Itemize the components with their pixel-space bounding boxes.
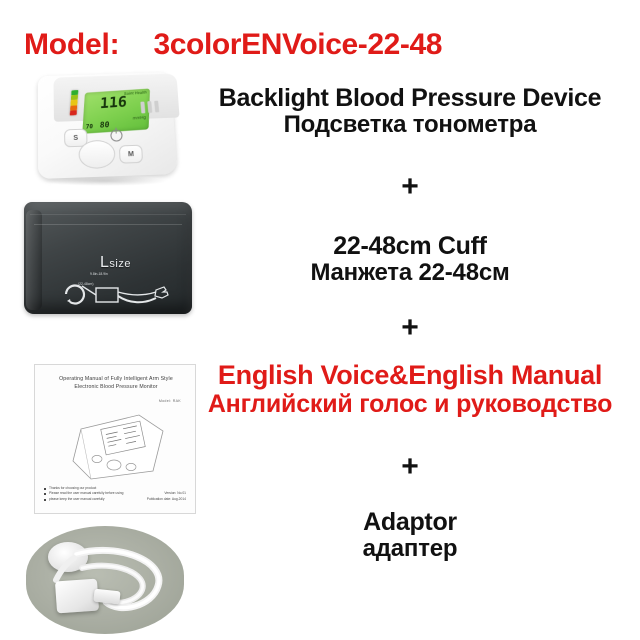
device-side-ticks xyxy=(140,100,168,129)
lcd-diastolic-value: 80 xyxy=(100,120,110,130)
manual-model-label: Model: RAK xyxy=(159,399,181,403)
manual-title-line2: Electronic Blood Pressure Monitor xyxy=(41,383,191,391)
manual-photo: Operating Manual of Fully Intelligent Ar… xyxy=(34,364,196,514)
cuff-caption-en: 22-48cm Cuff xyxy=(180,232,640,260)
indicator-segment xyxy=(70,110,77,116)
tick-mark xyxy=(147,101,152,113)
device-caption-en: Backlight Blood Pressure Device xyxy=(180,84,640,112)
tick-mark xyxy=(154,101,159,113)
adaptor-photo xyxy=(16,524,192,636)
voice-manual-caption: English Voice&English Manual Английский … xyxy=(180,360,640,418)
cuff-arm-diagram-icon xyxy=(56,274,176,314)
product-listing-image: Model: 3colorENVoice-22-48 Saint Health … xyxy=(0,0,640,640)
lcd-systolic-value: 116 xyxy=(100,95,128,112)
cuff-fold xyxy=(26,210,42,310)
separator-plus-2: + xyxy=(180,313,640,343)
cuff-caption: 22-48cm Cuff Манжета 22-48см xyxy=(180,232,640,287)
manual-meta: Version: No.01 Publication date: Aug.201… xyxy=(147,491,186,503)
adaptor-power-brick xyxy=(55,579,99,614)
lcd-pulse-value: 70 xyxy=(85,123,93,130)
voice-manual-caption-en: English Voice&English Manual xyxy=(180,360,640,390)
manual-publication-date: Publication date: Aug.2014 xyxy=(147,497,186,503)
cuff-size-label: Lsize xyxy=(100,254,131,272)
device-memory-button: M xyxy=(119,145,143,164)
device-body: Saint Health 116 80 70 mmHg S M xyxy=(38,72,178,179)
separator-plus-1: + xyxy=(180,172,640,202)
cuff-seam xyxy=(30,214,186,215)
blood-pressure-device-photo: Saint Health 116 80 70 mmHg S M xyxy=(28,66,186,188)
adaptor-caption-en: Adaptor xyxy=(180,508,640,536)
model-value: 3colorENVoice-22-48 xyxy=(153,28,442,62)
cuff-photo: Lsize 9.8in-18.9in (22-48cm) xyxy=(20,196,196,322)
cuff-body: Lsize 9.8in-18.9in (22-48cm) xyxy=(24,202,192,314)
separator-plus-3: + xyxy=(180,452,640,482)
manual-device-illustration-icon xyxy=(69,409,165,483)
manual-title: Operating Manual of Fully Intelligent Ar… xyxy=(41,375,191,391)
adaptor-caption: Adaptor адаптер xyxy=(180,508,640,563)
adaptor-caption-ru: адаптер xyxy=(180,536,640,563)
model-label: Model: xyxy=(24,28,119,62)
voice-manual-caption-ru: Английский голос и руководство xyxy=(180,390,640,418)
cuff-size-letter: L xyxy=(100,254,109,271)
adaptor-connector-plug xyxy=(93,589,120,605)
manual-title-line1: Operating Manual of Fully Intelligent Ar… xyxy=(41,375,191,383)
tick-mark xyxy=(140,102,145,114)
adaptor-cable xyxy=(16,524,192,636)
device-caption-ru: Подсветка тонометра xyxy=(180,112,640,139)
model-header: Model: 3colorENVoice-22-48 xyxy=(0,24,640,66)
device-start-button xyxy=(78,140,115,170)
cuff-size-word: size xyxy=(109,258,131,270)
power-icon xyxy=(110,129,123,141)
device-caption: Backlight Blood Pressure Device Подсветк… xyxy=(180,84,640,139)
cuff-seam xyxy=(34,224,182,225)
cuff-caption-ru: Манжета 22-48см xyxy=(180,260,640,287)
lcd-brand-text: Saint Health xyxy=(124,90,147,96)
